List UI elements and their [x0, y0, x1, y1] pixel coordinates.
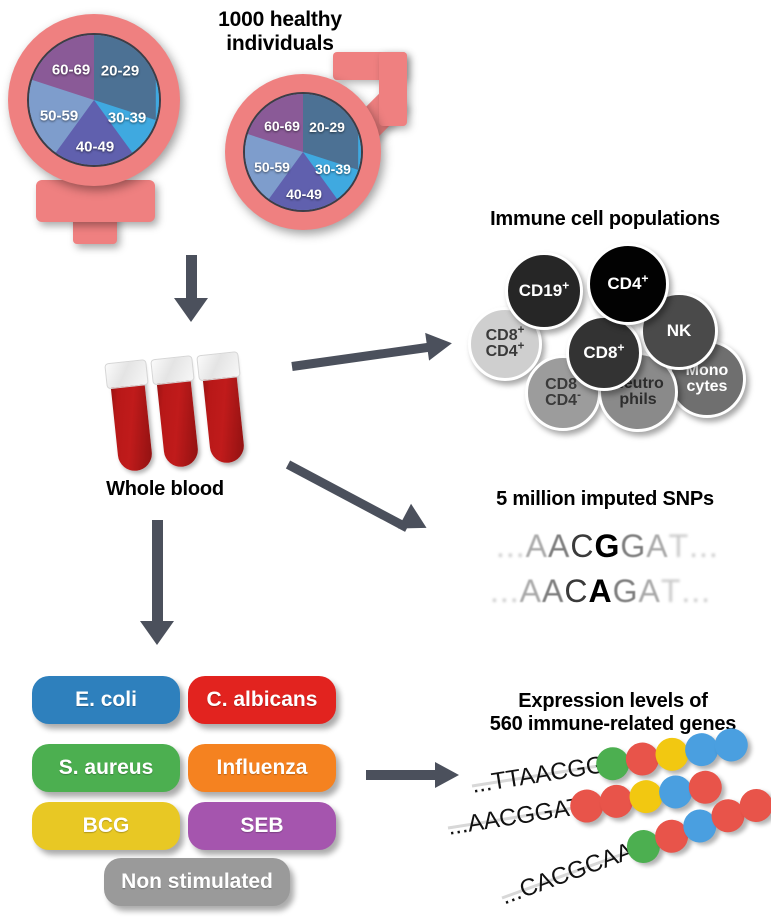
expression-title-line1: Expression levels of — [455, 690, 771, 713]
snp-left: A — [542, 573, 564, 610]
snp-variant: G — [594, 528, 620, 565]
snp-left: A — [520, 573, 542, 610]
immune-cell-cd4pos: CD4+ — [587, 243, 669, 325]
stimulus-s-aureus[interactable]: S. aureus — [32, 744, 180, 792]
snp-right: A — [638, 573, 660, 610]
strand-sequence: ...AACGGAT — [446, 793, 584, 842]
arrow-head — [398, 504, 433, 540]
stimulus-e-coli[interactable]: E. coli — [32, 676, 180, 724]
snp-prefix: ... — [496, 528, 526, 565]
immune-cell-label: CD8+ — [583, 344, 624, 361]
snp-sequence-allele-a: ...AACAGAT... — [490, 573, 711, 610]
snp-prefix: ... — [490, 573, 520, 610]
stimuli-group: E. coli C. albicans S. aureus Influenza … — [0, 0, 360, 922]
stimulus-seb[interactable]: SEB — [188, 802, 336, 850]
rna-strands-group: ...TTAACGG ...AACGGAT ...CACGCAA — [450, 740, 771, 920]
snp-right: G — [613, 573, 639, 610]
stimulus-non-stimulated[interactable]: Non stimulated — [104, 858, 290, 906]
snp-right: T — [661, 573, 682, 610]
immune-cell-label: CD8-CD4- — [545, 377, 581, 410]
snp-right: T — [669, 528, 690, 565]
snp-suffix: ... — [681, 573, 711, 610]
diagram-canvas: 1000 healthy individuals 20-29 30-39 40-… — [0, 0, 771, 922]
immune-cell-label: CD19+ — [519, 282, 570, 299]
snp-sequence-allele-g: ...AACGGAT... — [496, 528, 719, 565]
immune-cell-label: CD4+ — [607, 275, 648, 292]
arrow-shaft — [366, 770, 438, 780]
snp-suffix: ... — [689, 528, 719, 565]
immune-cell-label: NK — [667, 322, 692, 339]
stimulus-c-albicans[interactable]: C. albicans — [188, 676, 336, 724]
expression-bead — [712, 726, 750, 764]
stimulus-bcg[interactable]: BCG — [32, 802, 180, 850]
immune-cell-label: CD8+CD4+ — [486, 328, 525, 361]
immune-cell-cd8pos: CD8+ — [566, 315, 642, 391]
snp-right: G — [620, 528, 646, 565]
snp-sequence-group: ...AACGGAT... ...AACAGAT... — [490, 528, 750, 618]
snp-right: A — [646, 528, 668, 565]
snps-title: 5 million imputed SNPs — [455, 488, 755, 511]
snp-left: A — [526, 528, 548, 565]
snp-left: A — [548, 528, 570, 565]
snp-left: C — [570, 528, 594, 565]
strand-sequence: ...CACGCAA — [497, 837, 637, 911]
stimulus-influenza[interactable]: Influenza — [188, 744, 336, 792]
immune-cell-cd19pos: CD19+ — [505, 252, 583, 330]
snp-left: C — [564, 573, 588, 610]
snp-variant: A — [588, 573, 612, 610]
